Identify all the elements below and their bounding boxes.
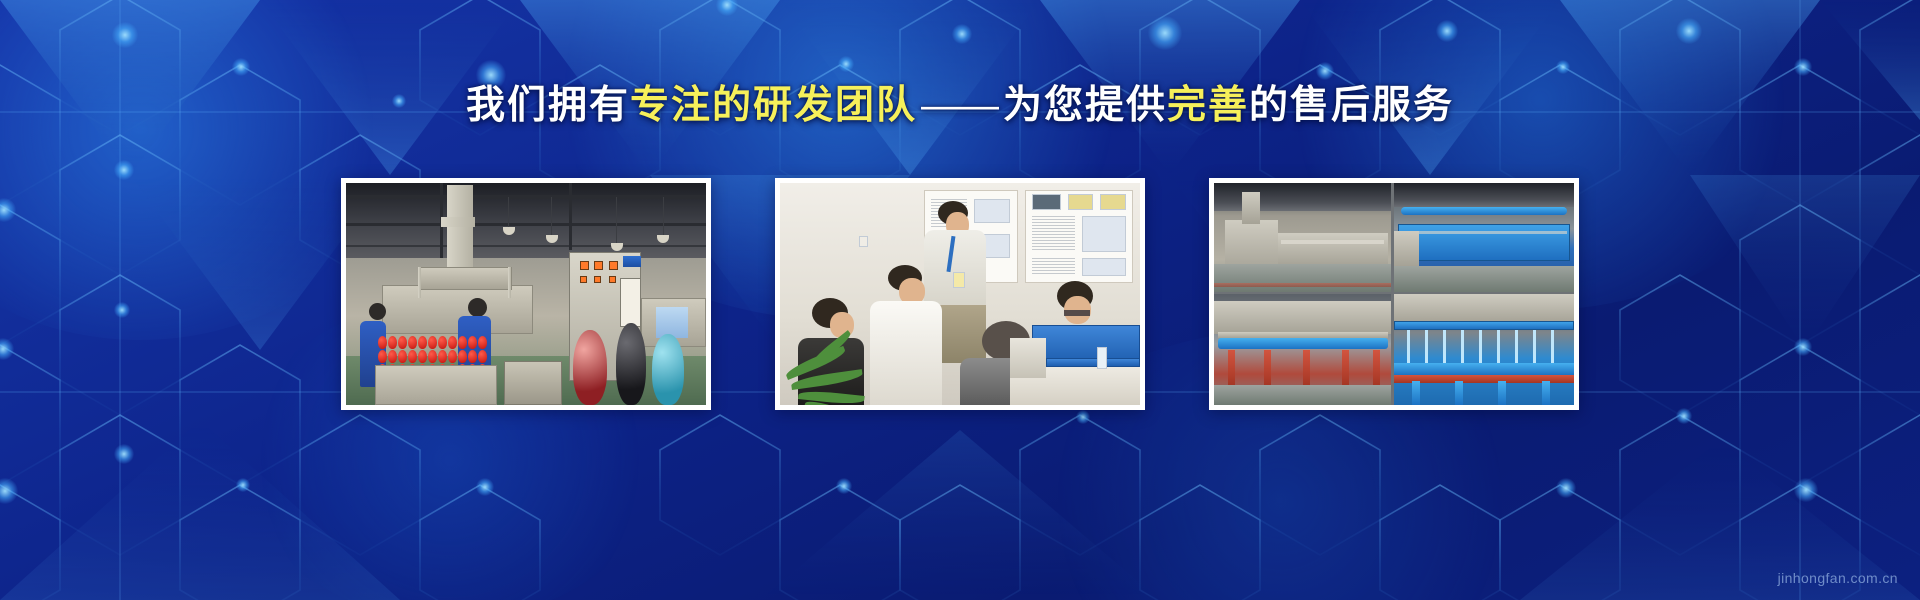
roof-beam	[346, 223, 706, 226]
glow-node	[232, 58, 250, 76]
chain-drive	[1218, 332, 1388, 339]
gallery-quadrant-bottom-right	[1394, 294, 1574, 405]
equipment-model-rail	[1046, 358, 1140, 367]
title-segment-1: 我们拥有	[466, 84, 630, 127]
title-separator-dash: ——	[917, 84, 1003, 127]
tunnel-highlight	[1281, 240, 1384, 244]
blue-pipe	[1401, 207, 1567, 215]
equipment-model	[1032, 325, 1140, 363]
photo-panel-factory-production-line[interactable]	[341, 178, 711, 410]
title-segment-4: 完善	[1167, 84, 1249, 127]
part-hanger	[1425, 330, 1428, 363]
support-post	[1498, 381, 1506, 405]
support-leg	[1373, 350, 1380, 388]
floor-region	[1214, 264, 1391, 292]
glow-node	[1794, 478, 1818, 502]
lamp-wire	[551, 197, 552, 237]
conveyor-beam	[1218, 338, 1388, 349]
photo-technical-meeting	[780, 183, 1140, 405]
hero-banner: 我们拥有专注的研发团队——为您提供完善的售后服务	[0, 0, 1920, 600]
floor-region	[1394, 266, 1574, 292]
plant-roof	[1214, 183, 1391, 211]
overhead-rail	[1394, 321, 1574, 330]
indicator-light	[594, 276, 601, 283]
glow-node	[114, 160, 134, 180]
indicator-light	[594, 261, 603, 270]
glow-node	[1676, 408, 1692, 424]
part-hanger	[1443, 330, 1446, 363]
floor-region	[1214, 385, 1391, 405]
conveyor-tunnel	[1278, 233, 1388, 266]
glow-node	[476, 478, 494, 496]
board-text-block	[1032, 216, 1075, 252]
glow-node	[1148, 16, 1182, 50]
oven-arm	[418, 267, 421, 298]
part-hanger	[1515, 330, 1518, 363]
product-vase-red	[573, 330, 607, 405]
glow-node	[1076, 410, 1090, 424]
board-diagram	[1082, 216, 1125, 252]
lamp-wire	[663, 197, 664, 237]
engineer-badge	[953, 272, 965, 288]
board-photo	[1100, 194, 1125, 210]
photo-panel-equipment-gallery[interactable]	[1209, 178, 1579, 410]
support-post	[1412, 381, 1420, 405]
glow-node	[1556, 60, 1570, 74]
housing-sign	[656, 307, 688, 338]
eyeglasses	[1064, 310, 1090, 316]
oven-duct	[1242, 192, 1260, 225]
glow-node	[114, 444, 134, 464]
tunnel-edge-highlight	[1401, 231, 1567, 234]
photo-factory-production-line	[346, 183, 706, 405]
part-hanger	[1479, 330, 1482, 363]
part-hanger	[1533, 330, 1536, 363]
support-post	[1542, 381, 1550, 405]
storage-crate	[504, 361, 562, 405]
site-watermark: jinhongfan.com.cn	[1778, 570, 1898, 586]
page-title: 我们拥有专注的研发团队——为您提供完善的售后服务	[0, 82, 1920, 130]
roof-truss	[569, 183, 572, 250]
glow-node	[716, 0, 738, 16]
title-segment-3: 为您提供	[1003, 84, 1167, 127]
glow-node	[0, 478, 18, 504]
glow-node	[1794, 58, 1812, 76]
board-photo	[1068, 194, 1093, 210]
glow-node	[1436, 20, 1458, 42]
support-post	[1455, 381, 1463, 405]
indicator-light	[580, 276, 587, 283]
part-hanger	[1551, 330, 1554, 363]
standing-engineer-shirt	[924, 230, 986, 310]
glow-node	[836, 478, 852, 494]
duct-cap	[441, 217, 475, 227]
photo-panel-row	[0, 178, 1920, 410]
plant-roof	[1394, 183, 1574, 207]
support-leg	[1228, 350, 1235, 388]
board-diagram	[1082, 258, 1125, 276]
glow-node	[952, 24, 972, 44]
indicator-light	[580, 261, 589, 270]
background-machine	[1214, 301, 1391, 334]
lower-conveyor	[1394, 363, 1574, 375]
wall-switch	[859, 236, 868, 247]
part-hanger	[1407, 330, 1410, 363]
foreground-plant	[784, 343, 906, 405]
cabinet-label	[623, 256, 641, 267]
indicator-light	[609, 261, 618, 270]
part-hanger	[1497, 330, 1500, 363]
photo-equipment-gallery	[1214, 183, 1574, 405]
roof-beam	[346, 245, 706, 247]
glow-node	[112, 22, 138, 48]
product-vase-black	[616, 323, 646, 405]
oven-arm	[508, 267, 511, 298]
lamp-wire	[616, 197, 617, 245]
glow-node	[1316, 62, 1334, 80]
lamp-wire	[508, 197, 509, 229]
part-hanger	[1461, 330, 1464, 363]
board-text-block	[1032, 258, 1075, 276]
glow-node	[1676, 18, 1702, 44]
product-vase-teal	[652, 334, 684, 405]
equipment-model-cabinet	[1010, 338, 1046, 378]
cabinet-document	[620, 278, 642, 327]
indicator-light	[609, 276, 616, 283]
gallery-quadrant-top-left	[1214, 183, 1391, 292]
product-bench	[375, 365, 497, 405]
gallery-quadrant-bottom-left	[1214, 294, 1391, 405]
gallery-quadrant-top-right	[1394, 183, 1574, 292]
water-bottle	[1097, 347, 1107, 369]
glow-node	[236, 478, 250, 492]
support-leg	[1264, 350, 1271, 388]
background-wall	[1394, 294, 1574, 323]
roof-beam	[346, 195, 706, 199]
support-leg	[1303, 350, 1310, 388]
side-cabinet	[1394, 231, 1419, 266]
title-segment-5: 的售后服务	[1249, 84, 1454, 127]
board-diagram	[974, 199, 1010, 223]
floor-marking	[1214, 283, 1391, 287]
oven-hood	[418, 267, 512, 289]
board-photo	[1032, 194, 1061, 210]
glow-node	[838, 56, 854, 72]
photo-panel-technical-meeting[interactable]	[775, 178, 1145, 410]
support-leg	[1342, 350, 1349, 388]
glow-node	[1556, 478, 1576, 498]
title-segment-2: 专注的研发团队	[630, 84, 917, 127]
